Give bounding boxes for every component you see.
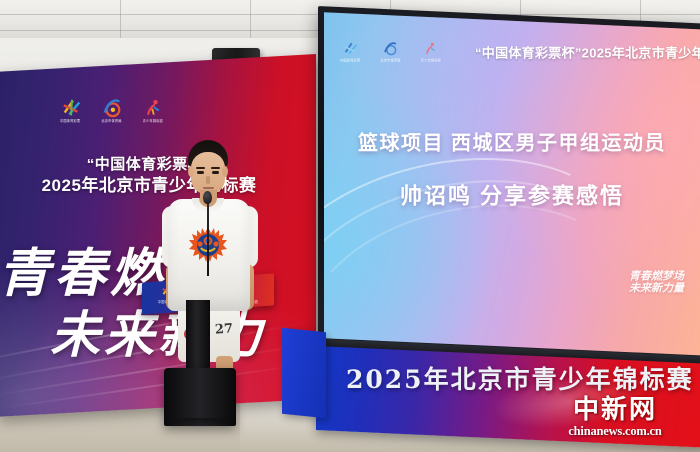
ceiling-tile-line (250, 0, 251, 38)
youth-championship-logo: 青少年锦标赛 (143, 98, 163, 123)
projection-screen-surface: 中国体育彩票 北京市体育局 (324, 12, 700, 355)
beijing-sports-bureau-logo: 北京市体育局 (380, 41, 400, 62)
eyebrow-left (196, 167, 205, 169)
eyebrow-right (211, 167, 220, 169)
mouth (203, 187, 214, 189)
screen-speaker-line: 帅诏鸣 分享参赛感悟 (324, 178, 700, 210)
watermark-brand: 中新网 (540, 396, 690, 424)
microphone-head (203, 191, 212, 204)
eye-left (197, 171, 204, 174)
shirt-number: 27 (214, 321, 233, 337)
screen-header-title: “中国体育彩票杯”2025年北京市青少年锦标赛 (475, 42, 700, 61)
logo-caption: 北京市体育局 (380, 57, 400, 62)
ear-right (222, 166, 228, 177)
ear-left (188, 166, 194, 177)
eye-right (212, 171, 219, 174)
logo-caption: 中国体育彩票 (60, 118, 80, 123)
podium-column (186, 300, 210, 378)
logo-caption: 北京市体育局 (101, 118, 121, 123)
youth-championship-logo: 青少年锦标赛 (421, 41, 441, 62)
china-sports-lottery-logo: 中国体育彩票 (340, 41, 360, 62)
backdrop-logo-row: 中国体育彩票 北京市体育局 (60, 89, 205, 123)
china-sports-lottery-logo: 中国体育彩票 (60, 98, 80, 123)
watermark-url: chinanews.com.cn (540, 424, 690, 439)
ceiling-tile-line (120, 0, 121, 38)
logo-caption: 青少年锦标赛 (143, 118, 163, 123)
screen-calligraphy-line2: 未来新力量 (629, 282, 684, 294)
nose (206, 176, 210, 184)
podium-base (164, 368, 236, 426)
logo-caption: 青少年锦标赛 (421, 57, 441, 62)
screen-header: 中国体育彩票 北京市体育局 (340, 38, 688, 64)
screen-corner-calligraphy: 青春燃梦场 未来新力量 (629, 270, 684, 294)
microphone-stem (207, 198, 209, 276)
screen-subtitle-line: 篮球项目 西城区男子甲组运动员 (324, 126, 700, 155)
projection-screen: 中国体育彩票 北京市体育局 (318, 6, 700, 372)
blue-side-panel (282, 328, 326, 419)
chinanews-watermark: 中新网 chinanews.com.cn (540, 396, 690, 444)
lower-banner-text: 2025年北京市青少年锦标赛 (346, 360, 694, 396)
beijing-sports-bureau-logo: 北京市体育局 (101, 98, 121, 123)
photo-scene: 中国体育彩票 北京市体育局 (0, 0, 700, 452)
logo-caption: 中国体育彩票 (340, 57, 360, 62)
